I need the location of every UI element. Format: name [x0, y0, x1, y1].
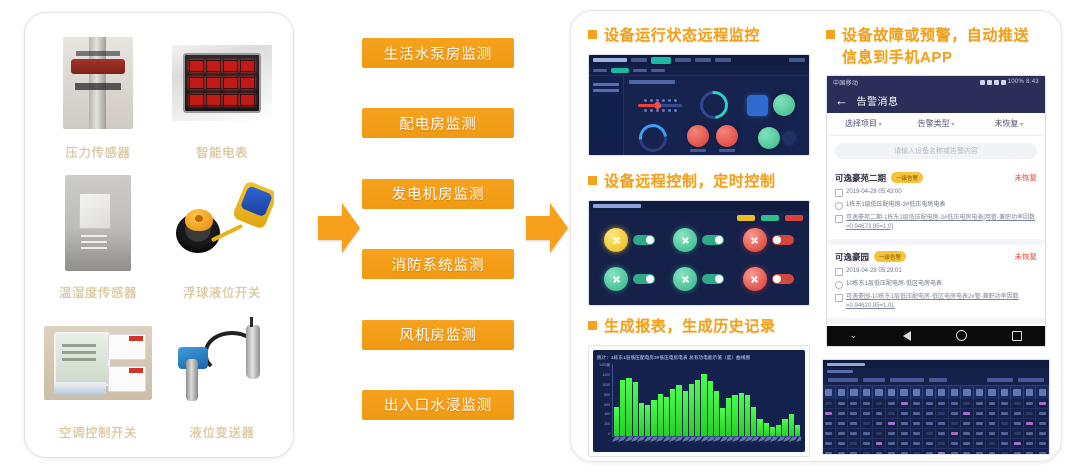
table-cell [974, 429, 987, 438]
table-cell [886, 429, 899, 438]
table-column-header [861, 386, 874, 399]
temperature-humidity-sensor-photo [39, 167, 157, 279]
table-cell [861, 399, 874, 408]
table-column-header [898, 386, 911, 399]
chart-bar [651, 400, 656, 435]
table-header-row [823, 385, 1049, 399]
alarm-indicator-group [687, 125, 738, 152]
chart-bar [745, 395, 750, 436]
dashboard-sidebar[interactable] [589, 76, 624, 156]
phone-app-bar: ← 告警消息 [827, 89, 1045, 113]
flow-gauge [633, 119, 672, 156]
bar-chart: 统计：1栋东1层低压配电房3#低压电房电表 总有功电能示值（度）曲线图 1400… [593, 350, 805, 452]
table-cell [861, 439, 874, 448]
chart-y-tick: 800 [604, 394, 610, 397]
chart-y-tick: 200 [604, 423, 610, 426]
table-cell [974, 419, 987, 428]
scenario-chip-fan-room[interactable]: 风机房监测 [362, 320, 514, 350]
table-cell [861, 449, 874, 455]
alarm-search-input[interactable]: 请输入设备名称或告警内容 [835, 143, 1037, 159]
table-cell [823, 399, 836, 408]
sensor-card-level-transmitter[interactable]: 液位变送器 [163, 307, 281, 445]
sensor-card-pressure[interactable]: 压力传感器 [39, 27, 157, 165]
table-cell [836, 439, 849, 448]
flow-arrow-1-icon [316, 200, 362, 256]
dashboard-subnav [589, 66, 809, 76]
table-cell [1024, 419, 1037, 428]
chart-y-axis: 1400度120010008006004002000 [597, 364, 612, 437]
table-row[interactable] [823, 449, 1049, 455]
table-cell [923, 419, 936, 428]
table-column-header [873, 386, 886, 399]
table-cell [898, 409, 911, 418]
alarm-project: 可逸豪苑二期 [835, 172, 886, 184]
fan-icon[interactable] [673, 267, 697, 291]
table-cell [861, 429, 874, 438]
status-indicator-red [716, 125, 738, 147]
alarm-detail-line: 可逸豪园-10栋东1层低压配电房-低区电房电表2#管-兼职功率因数=0.9462… [835, 293, 1037, 311]
pressure-sensor-photo [39, 27, 157, 139]
block-heading-reports-history: 生成报表，生成历史记录 [588, 316, 810, 338]
bullet-square-icon [588, 176, 597, 185]
scenario-chip-distribution-room[interactable]: 配电房监测 [362, 108, 514, 138]
level-transmitter-photo [163, 307, 281, 419]
table-cell [911, 449, 924, 455]
fan-icon[interactable] [743, 228, 767, 252]
chart-bar [795, 425, 800, 435]
table-cell [936, 449, 949, 455]
panel-title [629, 80, 675, 84]
table-action[interactable] [987, 378, 1013, 382]
table-column-header [923, 386, 936, 399]
table-cell [986, 449, 999, 455]
dashboard-menu-item[interactable] [715, 58, 731, 62]
sensor-grid: 压力传感器 智能电表 温湿度 [39, 27, 281, 445]
chart-bar [739, 393, 744, 436]
chart-bar [720, 408, 725, 436]
status-time: 8:43 [1026, 79, 1039, 85]
chart-bar [664, 397, 669, 436]
air-conditioner-control-switch-photo [39, 307, 157, 419]
table-row[interactable] [823, 409, 1049, 419]
solution-showcase-panel: 设备运行状态远程监控 [570, 10, 1062, 462]
table-cell [911, 409, 924, 418]
alarm-status: 未恢复 [1015, 172, 1038, 183]
dashboard-menu-item[interactable] [695, 58, 711, 62]
table-cell [886, 399, 899, 408]
dashboard-topbar [589, 55, 809, 66]
table-cell [911, 399, 924, 408]
small-tile-button[interactable] [784, 133, 794, 143]
table-cell [961, 429, 974, 438]
table-column-header [886, 386, 899, 399]
table-cell [986, 439, 999, 448]
subnav-tab-active[interactable] [611, 68, 629, 73]
table-cell [936, 399, 949, 408]
table-column-header [848, 386, 861, 399]
table-column-header [999, 386, 1012, 399]
alarm-list-item[interactable]: 可逸豪园 一级告警 未恢复 2019-04-28 05:29:01 10栋东1层… [827, 245, 1045, 324]
table-cell [949, 429, 962, 438]
table-cell [848, 439, 861, 448]
info-icon [835, 215, 843, 223]
control-legend [589, 211, 809, 221]
clock-icon [835, 189, 843, 197]
device-toggle[interactable] [633, 235, 655, 245]
info-icon [835, 294, 843, 302]
chart-y-tick: 600 [604, 404, 610, 407]
chart-y-tick: 1000 [602, 384, 610, 387]
alarm-level-badge: 一级告警 [891, 172, 923, 183]
chart-bar [614, 407, 619, 436]
table-cell [1011, 409, 1024, 418]
alarm-device: 1栋东1层低压配电房-3#低压电房电表 [846, 201, 945, 210]
scenario-chip-fire-system[interactable]: 消防系统监测 [362, 249, 514, 279]
alarm-project: 可逸豪园 [835, 251, 869, 263]
dashboard-row-2 [629, 122, 804, 155]
device-control-cell[interactable] [734, 260, 803, 299]
device-toggle[interactable] [772, 274, 794, 284]
table-cell [898, 399, 911, 408]
device-control-cell[interactable] [664, 221, 733, 260]
table-cell [911, 429, 924, 438]
dashboard-logo-icon [593, 58, 627, 62]
table-filter[interactable] [863, 378, 885, 382]
block-mobile-alarm-push: 设备故障或预警，自动推送信息到手机APP 中国移动 100% 8:43 ← 告警… [826, 25, 1044, 347]
block-reports-history: 生成报表，生成历史记录 统计：1栋东1层低压配电房3#低压电房电表 总有功电能示… [588, 316, 810, 457]
alarm-device-line: 1栋东1层低压配电房-3#低压电房电表 [835, 201, 1037, 210]
table-column-header [961, 386, 974, 399]
sensor-gallery-panel: 压力传感器 智能电表 温湿度 [24, 12, 294, 458]
subnav-tab[interactable] [593, 69, 607, 72]
table-row[interactable] [823, 399, 1049, 409]
table-cell [836, 419, 849, 428]
device-control-cell[interactable] [595, 221, 664, 260]
table-cell [986, 429, 999, 438]
alarm-time: 2019-04-28 05:29:01 [846, 267, 902, 276]
table-cell [936, 429, 949, 438]
table-cell [1024, 439, 1037, 448]
bullet-square-icon [588, 321, 597, 330]
scenario-chip-entrance-flood[interactable]: 出入口水浸监测 [362, 390, 514, 420]
table-row[interactable] [823, 419, 1049, 429]
device-toggle[interactable] [633, 274, 655, 284]
device-toggle[interactable] [702, 235, 724, 245]
scale-dots-icon [644, 99, 677, 102]
table-cell [936, 439, 949, 448]
app-bar-title: 告警消息 [857, 93, 899, 108]
table-cell [1036, 429, 1049, 438]
block-history-table [822, 359, 1050, 455]
status-indicator-green [758, 127, 780, 149]
table-column-header [911, 386, 924, 399]
table-titlebar [823, 360, 1049, 368]
sensor-card-float-switch[interactable]: 浮球液位开关 [163, 167, 281, 305]
table-cell [886, 409, 899, 418]
float-level-switch-photo [163, 167, 281, 279]
sidebar-item[interactable] [593, 89, 619, 92]
table-filter[interactable] [828, 378, 858, 382]
table-filter[interactable] [890, 378, 924, 382]
table-cell [823, 419, 836, 428]
table-column-header [836, 386, 849, 399]
table-cell [961, 449, 974, 455]
table-cell [848, 419, 861, 428]
device-toggle[interactable] [702, 274, 724, 284]
table-cell [886, 439, 899, 448]
table-cell [1011, 429, 1024, 438]
poster-canvas: 压力传感器 智能电表 温湿度 [0, 0, 1080, 474]
block-heading-mobile-alarm-push: 设备故障或预警，自动推送信息到手机APP [826, 25, 1044, 69]
fan-icon[interactable] [743, 267, 767, 291]
chart-bar [789, 414, 794, 436]
table-cell [836, 409, 849, 418]
table-cell [936, 419, 949, 428]
chart-bar [633, 382, 638, 436]
chart-bar [770, 427, 775, 436]
table-cell [886, 419, 899, 428]
table-cell [949, 439, 962, 448]
table-cell [886, 449, 899, 455]
table-cell [1011, 449, 1024, 455]
chart-y-tick: 1200 [602, 374, 610, 377]
smart-meter-photo [163, 27, 281, 139]
table-cell [873, 449, 886, 455]
chart-bar [676, 385, 681, 435]
table-cell [974, 409, 987, 418]
chart-title: 统计：1栋东1层低压配电房3#低压电房电表 总有功电能示值（度）曲线图 [597, 355, 801, 361]
sensor-label: 浮球液位开关 [183, 279, 261, 305]
sensor-label: 液位变送器 [189, 419, 254, 445]
back-triangle-icon[interactable] [903, 331, 911, 341]
alarm-list-item[interactable]: 可逸豪苑二期 一级告警 未恢复 2019-04-28 05:43:00 1栋东1… [827, 166, 1045, 245]
table-cell [1024, 399, 1037, 408]
table-cell [911, 439, 924, 448]
alarm-header: 可逸豪园 一级告警 未恢复 [835, 251, 1037, 263]
chart-bar [714, 391, 719, 436]
heading-text: 生成报表，生成历史记录 [604, 316, 776, 338]
alarm-detail[interactable]: 可逸豪苑二期-1栋东1层低压配电房-3#低压电房电表[用管-兼职功率因数=0.9… [846, 214, 1037, 232]
sensor-label: 温湿度传感器 [59, 279, 137, 305]
chart-bar [782, 419, 787, 436]
alarm-header: 可逸豪苑二期 一级告警 未恢复 [835, 172, 1037, 184]
table-cell [986, 399, 999, 408]
dashboard-menu-item-active[interactable] [651, 57, 671, 64]
table-cell [1036, 419, 1049, 428]
chart-bar [639, 403, 644, 436]
table-action[interactable] [1018, 378, 1044, 382]
table-cell [999, 439, 1012, 448]
pressure-gauge [695, 86, 734, 125]
sensor-label: 压力传感器 [65, 139, 130, 165]
chart-x-axis [597, 437, 801, 448]
chart-bar [626, 378, 631, 436]
table-column-header [936, 386, 949, 399]
history-table-screenshot[interactable] [822, 359, 1050, 455]
table-cell [873, 419, 886, 428]
table-cell [873, 439, 886, 448]
chart-bar [726, 398, 731, 436]
table-cell [898, 429, 911, 438]
table-breadcrumb [823, 368, 1049, 375]
status-indicator-green [773, 94, 795, 116]
table-cell [999, 429, 1012, 438]
block-heading-remote-control: 设备远程控制，定时控制 [588, 171, 810, 193]
table-filter[interactable] [929, 378, 947, 382]
alarm-device-line: 10栋东1层低压配电房-低区电房电表 [835, 280, 1037, 289]
fan-icon[interactable] [604, 267, 628, 291]
table-cell [999, 449, 1012, 455]
table-cell [848, 409, 861, 418]
table-cell [999, 409, 1012, 418]
table-cell [1011, 399, 1024, 408]
filter-project[interactable]: 选择项目 [827, 118, 900, 129]
phone-nav-bar: ⌄ [827, 326, 1045, 346]
table-cell [986, 409, 999, 418]
table-cell [898, 449, 911, 455]
chart-bar [764, 423, 769, 436]
device-status-group [747, 94, 795, 116]
table-cell [911, 419, 924, 428]
table-cell [1024, 409, 1037, 418]
alarm-level-badge: 一级告警 [874, 251, 906, 262]
clock-icon [835, 268, 843, 276]
fan-icon[interactable] [673, 228, 697, 252]
alarm-icon [1001, 80, 1006, 85]
device-control-cell[interactable] [664, 260, 733, 299]
chart-bar [695, 380, 700, 436]
alarm-device: 10栋东1层低压配电房-低区电房电表 [846, 280, 942, 289]
back-arrow-icon[interactable]: ← [835, 94, 849, 107]
chart-bar [701, 374, 706, 436]
status-icons: 100% 8:43 [980, 79, 1039, 85]
phone-status-bar: 中国移动 100% 8:43 [827, 76, 1045, 89]
table-row[interactable] [823, 439, 1049, 449]
table-cell [836, 399, 849, 408]
mobile-app-screenshot[interactable]: 中国移动 100% 8:43 ← 告警消息 选择项目 告警类型 未恢复 请输 [826, 75, 1046, 347]
block-heading-remote-monitoring: 设备运行状态远程监控 [588, 25, 810, 47]
table-cell [923, 449, 936, 455]
chart-bars [612, 364, 801, 437]
chart-bar [776, 425, 781, 436]
dashboard-body [589, 76, 809, 156]
energy-bar-chart-screenshot[interactable]: 统计：1栋东1层低压配电房3#低压电房电表 总有功电能示值（度）曲线图 1400… [588, 345, 810, 457]
control-screenshot[interactable] [588, 200, 810, 306]
alarm-time: 2019-04-28 05:43:00 [846, 188, 902, 197]
chart-y-tick: 400 [604, 413, 610, 416]
table-cell [861, 419, 874, 428]
sensor-card-temp-humidity[interactable]: 温湿度传感器 [39, 167, 157, 305]
home-circle-icon[interactable] [956, 330, 967, 341]
filter-alarm-type[interactable]: 告警类型 [900, 118, 973, 129]
status-indicator-red [687, 125, 709, 147]
table-cell [873, 399, 886, 408]
table-cell [898, 439, 911, 448]
level-slider[interactable] [638, 104, 682, 107]
table-column-header [1024, 386, 1037, 399]
table-cell [923, 399, 936, 408]
collapse-icon[interactable]: ⌄ [850, 330, 858, 341]
table-column-header [1036, 386, 1049, 399]
dashboard-menu-item[interactable] [631, 58, 647, 62]
device-control-cell[interactable] [595, 260, 664, 299]
level-slider-widget[interactable] [638, 99, 682, 112]
device-tile-button[interactable] [747, 95, 768, 116]
bluetooth-icon [994, 80, 999, 85]
device-control-grid [589, 221, 809, 303]
table-cell [974, 399, 987, 408]
filter-status[interactable]: 未恢复 [972, 118, 1045, 129]
sidebar-item[interactable] [593, 83, 619, 86]
status-carrier: 中国移动 [833, 78, 858, 87]
device-toggle[interactable] [772, 235, 794, 245]
dashboard-user-menu[interactable] [789, 58, 805, 62]
alarm-detail-line: 可逸豪苑二期-1栋东1层低压配电房-3#低压电房电表[用管-兼职功率因数=0.9… [835, 214, 1037, 232]
dashboard-main [624, 76, 809, 156]
dashboard-row-1 [629, 89, 804, 122]
scale-dots-icon [644, 109, 677, 112]
chart-bar [683, 391, 688, 436]
table-cell [923, 429, 936, 438]
dashboard-menu-item[interactable] [675, 58, 691, 62]
chart-bar [670, 389, 675, 435]
subnav-tab[interactable] [651, 69, 665, 72]
sensor-card-smart-meter[interactable]: 智能电表 [163, 27, 281, 165]
table-cell [1011, 419, 1024, 428]
fan-icon[interactable] [604, 228, 628, 252]
table-cell [1036, 449, 1049, 455]
recents-square-icon[interactable] [1012, 331, 1022, 341]
heading-text: 设备故障或预警，自动推送信息到手机APP [842, 25, 1044, 69]
table-cell [1036, 399, 1049, 408]
dashboard-screenshot[interactable] [588, 54, 810, 156]
scenario-chip-water-pump-room[interactable]: 生活水泵房监测 [362, 38, 514, 68]
flow-arrow-2-icon [524, 200, 570, 256]
alarm-list: 可逸豪苑二期 一级告警 未恢复 2019-04-28 05:43:00 1栋东1… [827, 166, 1045, 326]
table-column-header [949, 386, 962, 399]
status-battery: 100% [1008, 79, 1025, 85]
scenario-chip-generator-room[interactable]: 发电机房监测 [362, 179, 514, 209]
alarm-time-line: 2019-04-28 05:29:01 [835, 267, 1037, 276]
table-column-header [823, 386, 836, 399]
table-column-header [1011, 386, 1024, 399]
signal-icon [987, 80, 992, 85]
pump-status-group [758, 127, 794, 149]
table-cell [1011, 439, 1024, 448]
control-titlebar [589, 201, 809, 211]
monitoring-scenario-list: 生活水泵房监测 配电房监测 发电机房监测 消防系统监测 风机房监测 出入口水浸监… [362, 38, 514, 420]
table-cell [1036, 409, 1049, 418]
table-cell [936, 409, 949, 418]
device-control-cell[interactable] [734, 221, 803, 260]
table-row[interactable] [823, 429, 1049, 439]
alarm-detail[interactable]: 可逸豪园-10栋东1层低压配电房-低区电房电表2#管-兼职功率因数=0.9462… [846, 293, 1037, 311]
table-cell [961, 409, 974, 418]
table-cell [999, 399, 1012, 408]
table-cell [898, 419, 911, 428]
chart-bar [757, 419, 762, 436]
table-cell [836, 429, 849, 438]
alarm-filter-bar: 选择项目 告警类型 未恢复 [827, 113, 1045, 136]
table-cell [823, 409, 836, 418]
table-cell [949, 449, 962, 455]
sensor-card-ac-switch[interactable]: 空调控制开关 [39, 307, 157, 445]
table-cell [823, 429, 836, 438]
subnav-tab[interactable] [633, 69, 647, 72]
table-filter-bar [823, 375, 1049, 385]
table-cell [949, 399, 962, 408]
table-cell [1024, 429, 1037, 438]
